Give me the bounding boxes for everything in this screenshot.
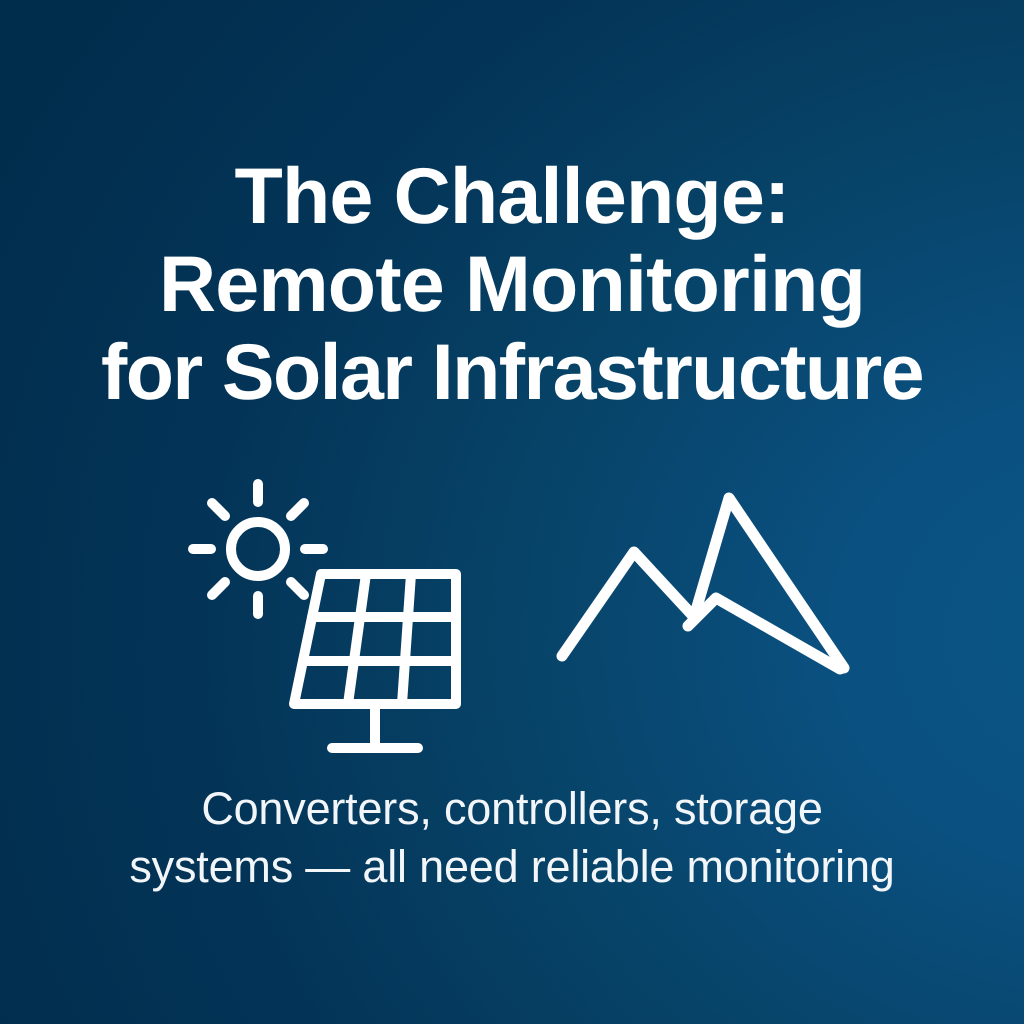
headline-line-2: Remote Monitoring (0, 240, 1024, 328)
headline-line-3: for Solar Infrastructure (0, 328, 1024, 416)
solar-panel-icon (294, 574, 456, 748)
mountain-range-icon (548, 488, 858, 693)
headline-line-1: The Challenge: (0, 152, 1024, 240)
solar-icon-svg (182, 470, 482, 760)
solar-panel-with-sun-icon (182, 470, 482, 765)
mountain-icon-svg (548, 488, 858, 688)
subtitle-line-1: Converters, controllers, storage (0, 780, 1024, 838)
subtitle: Converters, controllers, storage systems… (0, 780, 1024, 896)
slide-content: The Challenge: Remote Monitoring for Sol… (0, 0, 1024, 1024)
icon-row (0, 466, 1024, 756)
slide-canvas: The Challenge: Remote Monitoring for Sol… (0, 0, 1024, 1024)
subtitle-line-2: systems — all need reliable monitoring (0, 838, 1024, 896)
headline: The Challenge: Remote Monitoring for Sol… (0, 152, 1024, 416)
sun-icon (193, 484, 323, 614)
